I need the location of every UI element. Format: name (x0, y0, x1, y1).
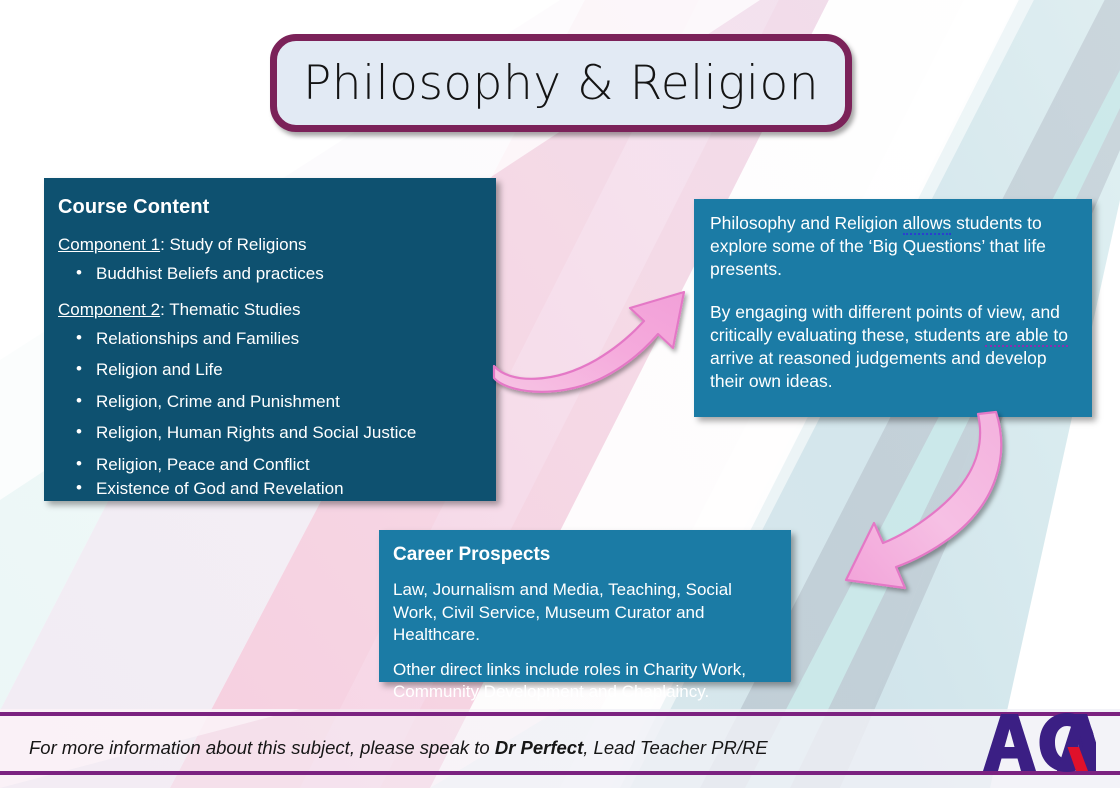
list-item: Religion, Human Rights and Social Justic… (58, 423, 476, 443)
intro-paragraph-2: By engaging with different points of vie… (710, 301, 1076, 392)
component-2-label: Component 2 (58, 300, 160, 319)
list-item: Religion, Crime and Punishment (58, 392, 476, 412)
slide-title-plaque: Philosophy & Religion (270, 34, 852, 132)
slide-footer: For more information about this subject,… (0, 709, 1120, 788)
intro-p2-part3: arrive at reasoned judgements and develo… (710, 348, 1047, 391)
career-prospects-heading: Career Prospects (393, 544, 775, 566)
footer-top-rule (0, 712, 1120, 716)
slide-canvas: Philosophy & Religion Course Content Com… (0, 0, 1120, 788)
page-title: Philosophy & Religion (303, 56, 819, 111)
component-2-bullet-list: Relationships and Families Religion and … (58, 329, 476, 499)
career-prospects-panel: Career Prospects Law, Journalism and Med… (379, 530, 791, 682)
list-item: Buddhist Beliefs and practices (58, 264, 476, 284)
component-1-suffix: : Study of Religions (160, 235, 306, 254)
list-item: Relationships and Families (58, 329, 476, 349)
footer-text-after: , Lead Teacher PR/RE (583, 737, 767, 758)
course-content-panel: Course Content Component 1: Study of Rel… (44, 178, 496, 501)
component-2-line: Component 2: Thematic Studies (58, 300, 476, 320)
component-2-suffix: : Thematic Studies (160, 300, 300, 319)
spellcheck-underline-are-able-to: are able to (985, 325, 1068, 347)
component-1-bullet-list: Buddhist Beliefs and practices (58, 264, 476, 284)
list-item: Existence of God and Revelation (58, 479, 476, 499)
intro-paragraph-1: Philosophy and Religion allows students … (710, 212, 1076, 280)
subject-description-panel: Philosophy and Religion allows students … (694, 199, 1092, 417)
component-1-line: Component 1: Study of Religions (58, 235, 476, 255)
career-paragraph-1: Law, Journalism and Media, Teaching, Soc… (393, 579, 775, 647)
course-content-heading: Course Content (58, 196, 476, 219)
footer-bottom-rule (0, 771, 1120, 775)
spellcheck-underline-allows: allows (903, 213, 952, 235)
list-item: Religion, Peace and Conflict (58, 455, 476, 475)
footer-text-before: For more information about this subject,… (29, 737, 495, 758)
footer-contact-text: For more information about this subject,… (29, 737, 768, 759)
intro-p1-part1: Philosophy and Religion (710, 213, 903, 233)
career-paragraph-2: Other direct links include roles in Char… (393, 659, 775, 704)
aqa-logo (981, 711, 1096, 773)
footer-teacher-name: Dr Perfect (495, 737, 583, 758)
list-item: Religion and Life (58, 360, 476, 380)
component-1-label: Component 1 (58, 235, 160, 254)
